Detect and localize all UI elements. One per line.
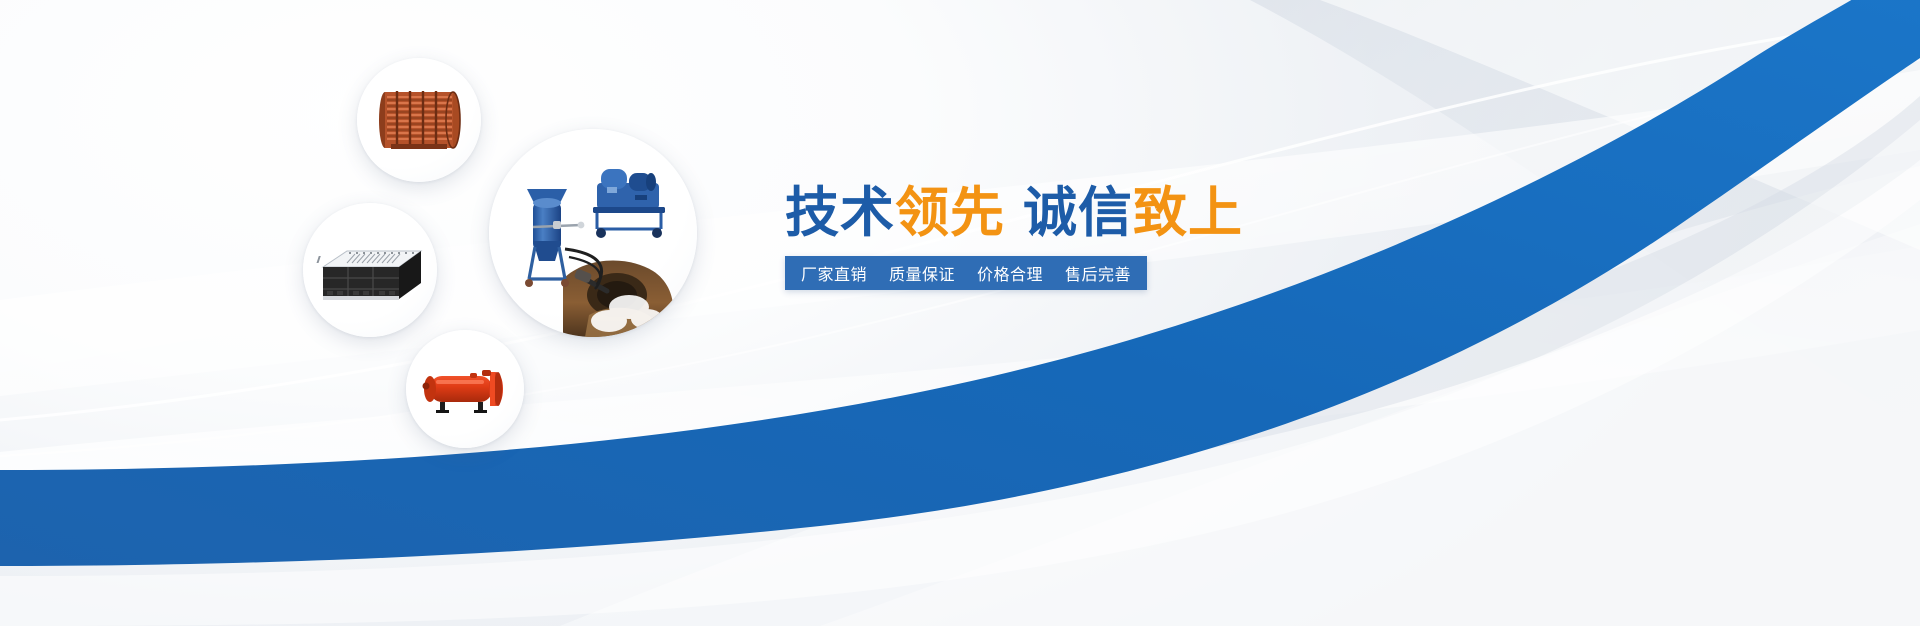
feature-tag-fair-price: 价格合理 [977,261,1043,285]
product-circle-cylinder-vessel [406,330,524,448]
background-decoration [0,0,1920,626]
plate-block-icon [303,203,437,337]
product-circle-sandblasting-unit [489,129,697,337]
headline-segment-3: 诚信 [1023,181,1133,244]
feature-tag-quality-guarantee: 质量保证 [889,261,955,285]
promo-banner: 技术领先诚信致上 厂家直销 质量保证 价格合理 售后完善 [0,0,1920,626]
headline: 技术领先诚信致上 [785,186,1243,240]
product-circle-exchanger-block [303,203,437,337]
feature-tag-factory-direct: 厂家直销 [801,261,867,285]
blast-tank-pump-icon [489,129,697,337]
headline-segment-2: 领先 [895,181,1005,244]
tube-bundle-icon [357,58,481,182]
feature-tag-after-sales: 售后完善 [1065,261,1131,285]
headline-segment-4: 致上 [1133,181,1243,244]
product-circle-tube-bundle [357,58,481,182]
cylinder-vessel-icon [406,330,524,448]
feature-tag-bar: 厂家直销 质量保证 价格合理 售后完善 [785,256,1147,290]
headline-segment-1: 技术 [785,181,895,244]
